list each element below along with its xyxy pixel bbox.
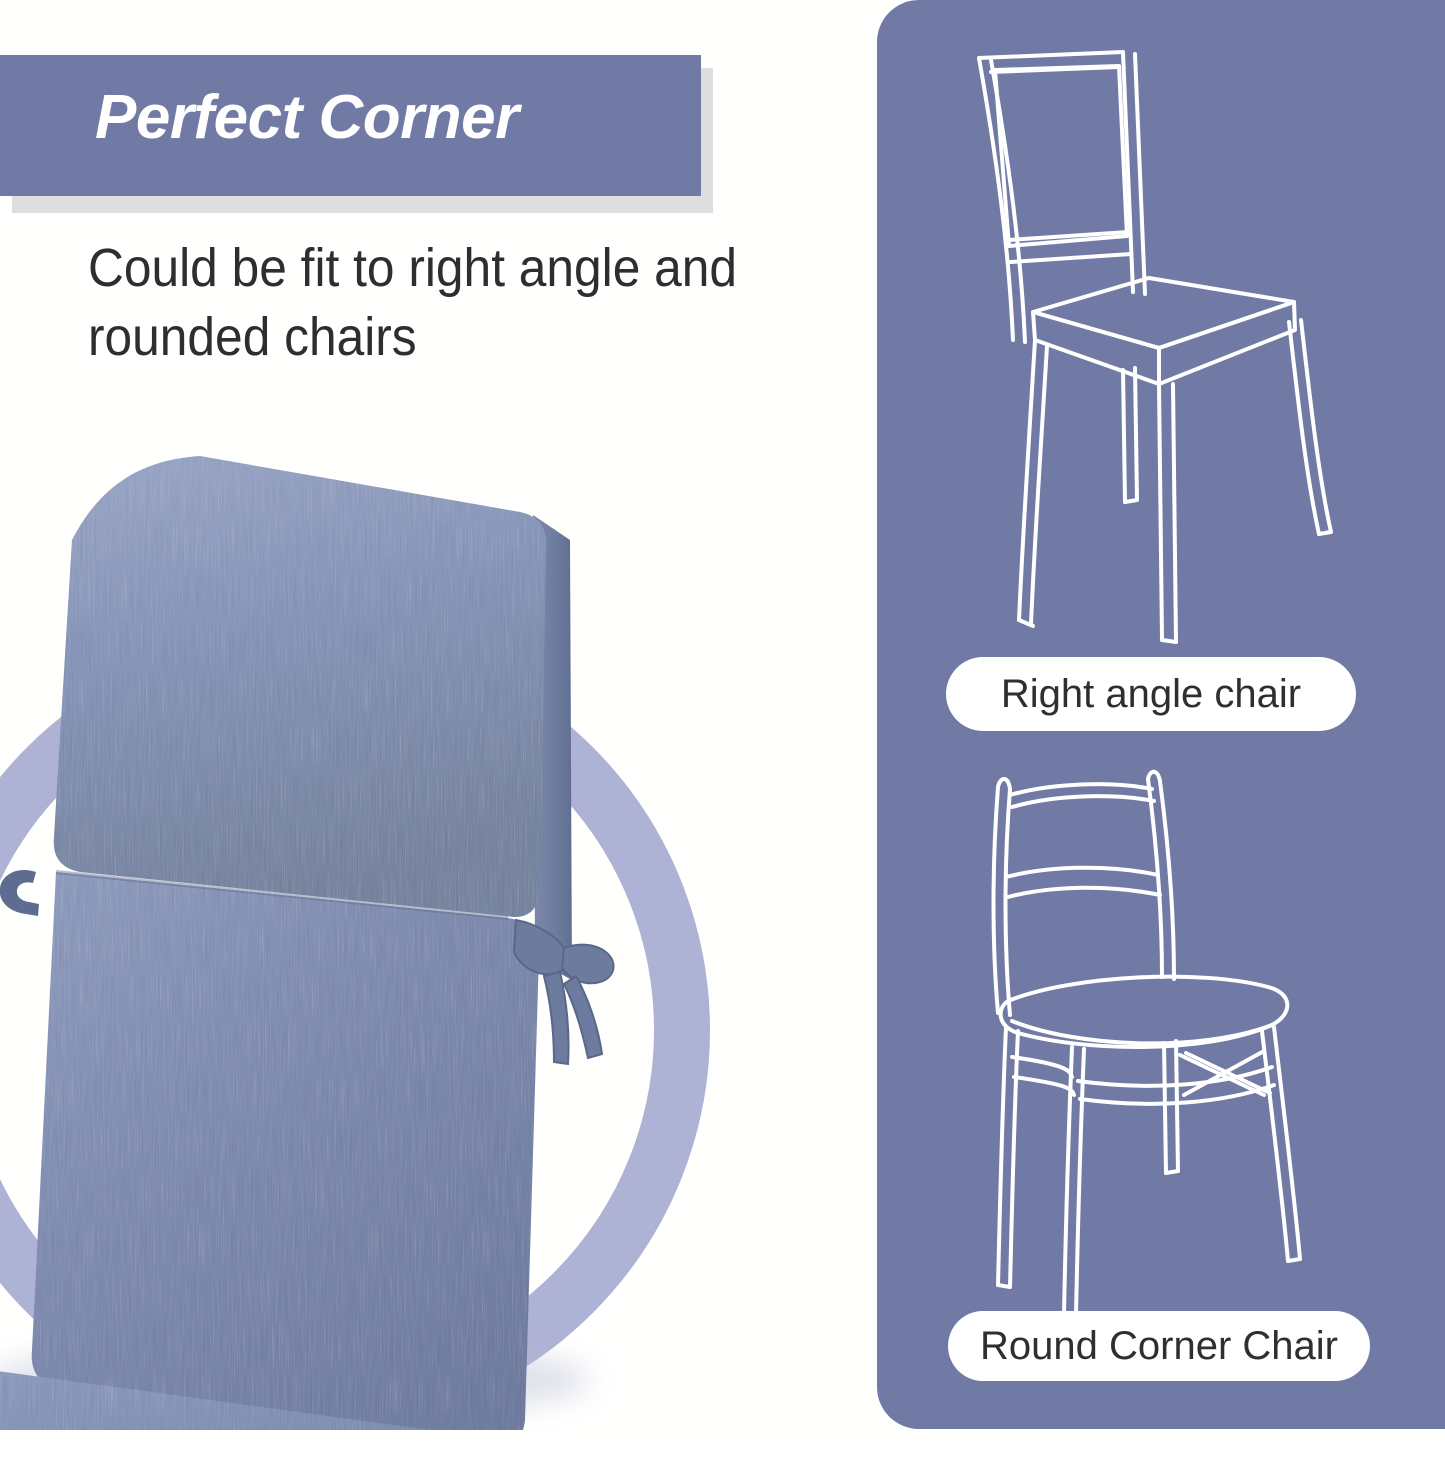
page-title: Perfect Corner — [95, 82, 519, 153]
marketing-slide: Perfect Corner Could be fit to right ang… — [0, 0, 1445, 1445]
label-right-angle-chair: Right angle chair — [946, 657, 1356, 731]
product-image-cushion — [0, 420, 680, 1430]
tie-strap-left — [0, 870, 39, 916]
round-corner-chair-icon — [972, 765, 1352, 1325]
cushion-back-pillow — [54, 456, 547, 917]
right-angle-chair-icon — [937, 40, 1367, 650]
cushion-back-panel — [32, 872, 539, 1430]
label-round-corner-chair: Round Corner Chair — [948, 1311, 1370, 1381]
page-subtitle: Could be fit to right angle and rounded … — [88, 234, 787, 372]
